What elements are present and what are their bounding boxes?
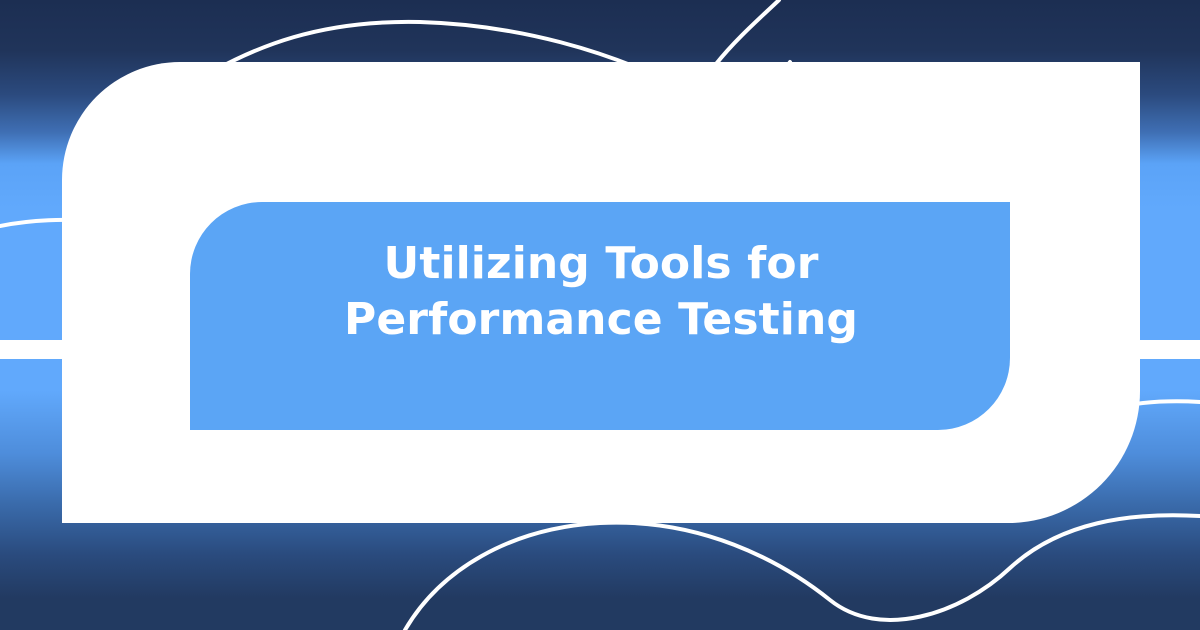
banner-canvas: Utilizing Tools for Performance Testing — [0, 0, 1200, 630]
decorative-curves-front — [0, 0, 1200, 630]
bottom-wave-icon — [405, 515, 1200, 630]
